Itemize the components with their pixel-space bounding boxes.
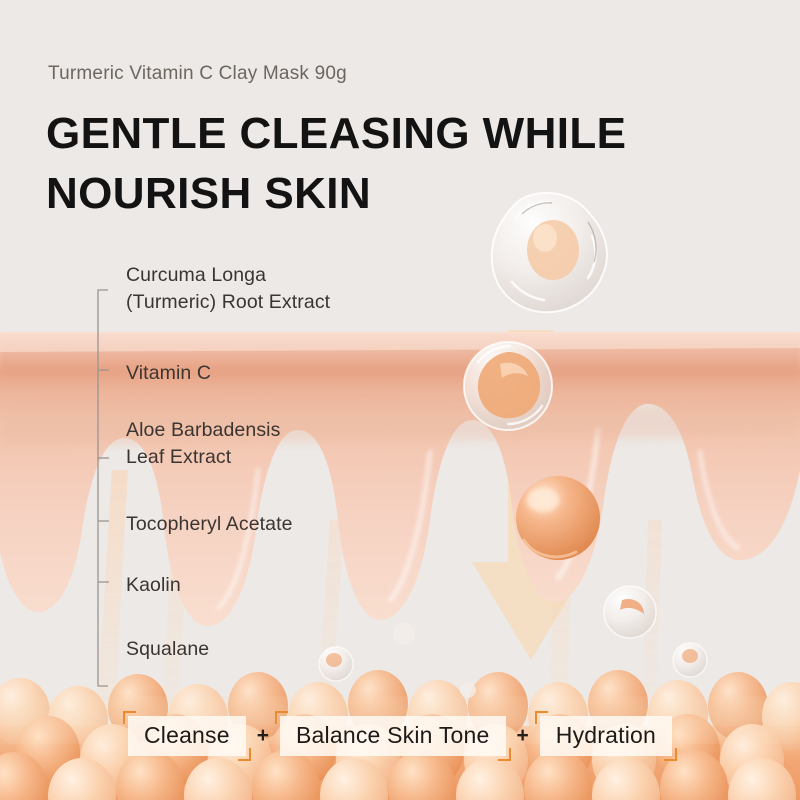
- headline-line-1: GENTLE CLEASING WHILE: [46, 109, 626, 158]
- ingredient-bracket: [96, 286, 120, 696]
- ingredient-item: Vitamin C: [126, 360, 211, 387]
- ingredient-item: Squalane: [126, 636, 209, 663]
- page-title: GENTLE CLEASING WHILE NOURISH SKIN: [46, 104, 626, 224]
- ingredient-item: Aloe Barbadensis Leaf Extract: [126, 417, 280, 471]
- benefit-label: Balance Skin Tone: [280, 716, 506, 756]
- turmeric-core-capsule: [464, 342, 552, 430]
- benefit-label: Hydration: [540, 716, 672, 756]
- plus-separator: +: [517, 724, 529, 748]
- ingredient-item: Tocopheryl Acetate: [126, 511, 293, 538]
- downward-absorption-arrow: [472, 330, 590, 660]
- ingredient-item: Curcuma Longa (Turmeric) Root Extract: [126, 262, 330, 316]
- benefit-label: Cleanse: [128, 716, 246, 756]
- benefit-pill-balance-skin-tone: Balance Skin Tone: [280, 716, 506, 756]
- benefit-pill-cleanse: Cleanse: [128, 716, 246, 756]
- plus-separator: +: [257, 724, 269, 748]
- product-subtitle: Turmeric Vitamin C Clay Mask 90g: [48, 63, 347, 85]
- benefit-pill-hydration: Hydration: [540, 716, 672, 756]
- benefit-row: Cleanse + Balance Skin Tone + Hydration: [0, 712, 800, 760]
- small-droplets: [319, 586, 707, 698]
- cream-gel-band: [0, 332, 800, 626]
- infographic-canvas: Turmeric Vitamin C Clay Mask 90g GENTLE …: [0, 0, 800, 800]
- ingredient-item: Kaolin: [126, 572, 181, 599]
- headline-line-2: NOURISH SKIN: [46, 169, 371, 218]
- orange-bead-sphere: [516, 476, 600, 560]
